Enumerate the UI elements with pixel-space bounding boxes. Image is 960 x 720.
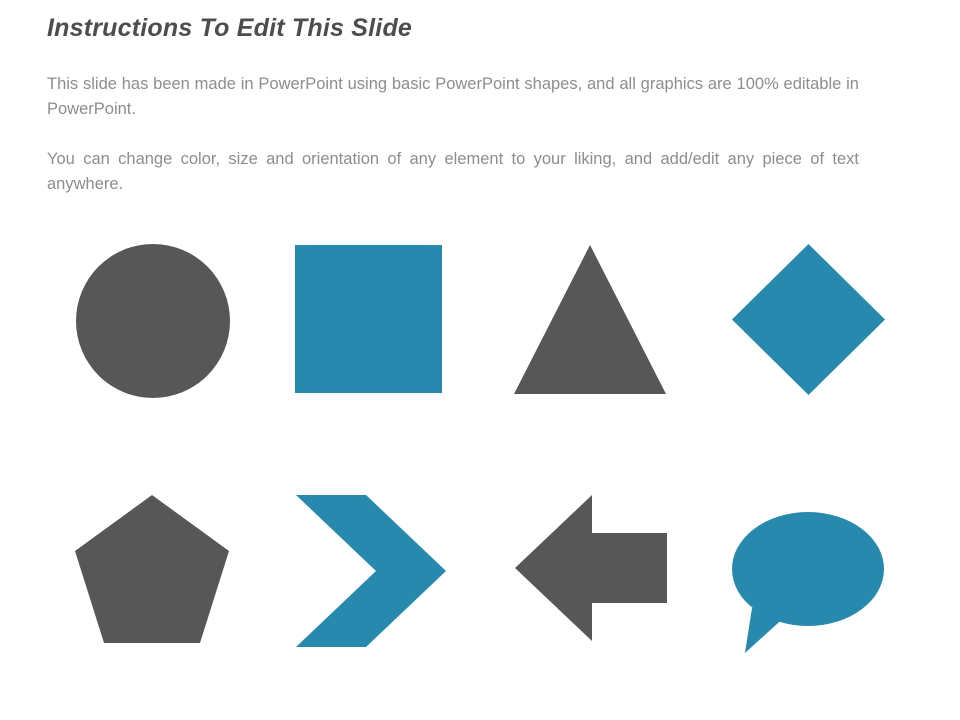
shape-square[interactable] (292, 242, 447, 397)
slide-canvas: Instructions To Edit This Slide This sli… (0, 0, 960, 720)
instructions-paragraph-1: This slide has been made in PowerPoint u… (47, 72, 859, 147)
shape-circle[interactable] (74, 242, 232, 400)
shape-triangle[interactable] (510, 242, 670, 397)
shape-arrow-left[interactable] (512, 492, 670, 644)
instructions-paragraph-2: You can change color, size and orientati… (47, 147, 859, 222)
shape-pentagon[interactable] (72, 492, 232, 647)
instructions-body: This slide has been made in PowerPoint u… (47, 72, 859, 222)
shape-speech-bubble[interactable] (730, 508, 890, 656)
shape-chevron-right[interactable] (292, 492, 450, 650)
page-title: Instructions To Edit This Slide (47, 12, 907, 44)
shape-diamond[interactable] (730, 242, 887, 397)
